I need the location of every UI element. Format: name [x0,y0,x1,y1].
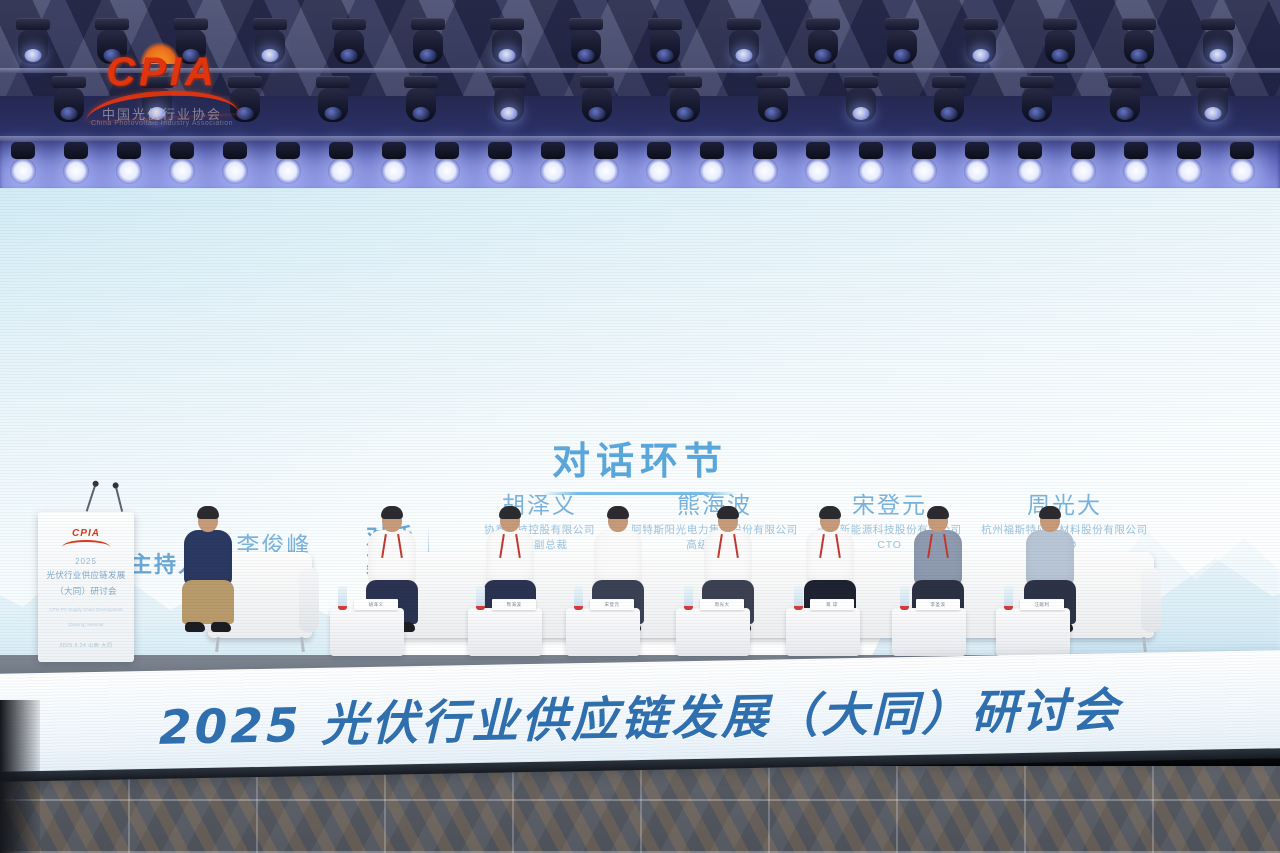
water-bottle [476,586,485,610]
beam-light [222,158,248,184]
beam-light-row [0,132,1280,190]
light-yoke [52,76,86,88]
light-lens [589,107,606,120]
light-lens [815,49,832,62]
beam-light-pod [1018,142,1042,159]
light-yoke [580,76,614,88]
lanyard [927,534,949,560]
water-bottle [900,586,909,610]
beam-light-pod [965,142,989,159]
light-head [492,30,522,64]
beam-light [275,158,301,184]
light-yoke [404,76,438,88]
light-yoke [844,76,878,88]
moving-head-light [727,18,761,64]
moving-head-light [1122,18,1156,64]
podium-date: 2025.5.24 山西·大同 [38,642,134,649]
light-head [758,88,788,122]
panel-seating-area: CPIA 2025 光伏行业供应链发展 （大同）研讨会 CPIA PV Supp… [0,470,1280,670]
beam-light [593,158,619,184]
light-lens [765,107,782,120]
panelist-legs [182,580,234,624]
light-yoke [932,76,966,88]
beam-light-pod [1071,142,1095,159]
moving-head-light [411,18,445,64]
lanyard [819,534,841,560]
water-bottle [338,586,347,610]
light-yoke [490,18,524,30]
moving-head-light [404,76,438,122]
panelist-shoes [185,620,231,632]
light-lens [325,107,342,120]
light-head [1124,30,1154,64]
beam-light [381,158,407,184]
panelist-torso [594,530,642,586]
beam-light-pod [647,142,671,159]
light-yoke [174,18,208,30]
beam-light-pod [753,142,777,159]
side-table: 汪献利 [996,608,1070,656]
moving-head-light [492,76,526,122]
light-lens [894,49,911,62]
beam-light [10,158,36,184]
light-head [1022,88,1052,122]
panelist-hair [1039,506,1061,519]
beam-light-pod [541,142,565,159]
light-head [650,30,680,64]
light-head [846,88,876,122]
beam-light-pod [170,142,194,159]
light-lens [1131,49,1148,62]
beam-light-pod [859,142,883,159]
light-head [887,30,917,64]
microphone-left [86,484,97,511]
beam-light [1070,158,1096,184]
podium-logo: CPIA [64,528,108,539]
light-head [1110,88,1140,122]
beam-light-pod [11,142,35,159]
moving-head-light [932,76,966,122]
light-head [1198,88,1228,122]
podium: CPIA 2025 光伏行业供应链发展 （大同）研讨会 CPIA PV Supp… [38,512,134,662]
light-lens [1205,107,1222,120]
light-yoke [316,76,350,88]
beam-light-pod [276,142,300,159]
panelist-hair [381,506,403,519]
light-yoke [648,18,682,30]
conference-stage-photo: CPIA 中国光伏行业协会 China Photovoltaic Industr… [0,0,1280,853]
beam-light-pod [329,142,353,159]
light-head [934,88,964,122]
light-head [255,30,285,64]
light-yoke [727,18,761,30]
light-head [494,88,524,122]
panelist-hair [197,506,219,519]
light-yoke [332,18,366,30]
moving-head-light [253,18,287,64]
light-lens [578,49,595,62]
light-head [729,30,759,64]
light-lens [420,49,437,62]
beam-light-pod [1230,142,1254,159]
light-lens [941,107,958,120]
light-yoke [1122,18,1156,30]
beam-light [63,158,89,184]
beam-light [434,158,460,184]
name-plate: 周光大 [700,599,744,610]
light-yoke [1043,18,1077,30]
beam-light [169,158,195,184]
moving-head-light [1196,76,1230,122]
beam-light-pod [806,142,830,159]
light-yoke [1196,76,1230,88]
panelist-hair [927,506,949,519]
side-table: 蒋 琼 [786,608,860,656]
side-table: 胡泽义 [330,608,404,656]
chair-legs [208,636,312,652]
light-lens [341,49,358,62]
beam-light-pod [435,142,459,159]
light-yoke [16,18,50,30]
name-plate: 胡泽义 [354,599,398,610]
light-head [808,30,838,64]
light-yoke [668,76,702,88]
foreground-shadow [0,700,40,853]
lanyard [381,534,403,560]
light-lens [1117,107,1134,120]
light-yoke [253,18,287,30]
moving-head-light [490,18,524,64]
light-head [571,30,601,64]
beam-light [1123,158,1149,184]
light-head [334,30,364,64]
podium-year: 2025 [38,557,134,566]
beam-light-pod [912,142,936,159]
light-lens [61,107,78,120]
light-lens [501,107,518,120]
light-yoke [1020,76,1054,88]
moving-head-light [580,76,614,122]
light-yoke [95,18,129,30]
beam-light [858,158,884,184]
name-plate: 宋登元 [590,599,634,610]
name-plate: 蒋 琼 [810,599,854,610]
beam-light [1229,158,1255,184]
light-yoke [885,18,919,30]
beam-light [540,158,566,184]
cpia-name-en: China Photovoltaic Industry Association [82,120,242,127]
light-head [1203,30,1233,64]
microphone-right [115,486,123,512]
panelist-hair [499,506,521,519]
beam-light-pod [488,142,512,159]
name-plate: 汪献利 [1020,599,1064,610]
beam-light-pod [223,142,247,159]
side-table: 周光大 [676,608,750,656]
light-lens [499,49,516,62]
beam-light-pod [1177,142,1201,159]
beam-light [116,158,142,184]
light-lens [973,49,990,62]
light-head [670,88,700,122]
moving-head-light [668,76,702,122]
moving-head-light [1201,18,1235,64]
beam-light-pod [594,142,618,159]
moving-head-light [316,76,350,122]
light-yoke [756,76,790,88]
cpia-logo: CPIA 中国光伏行业协会 China Photovoltaic Industr… [82,44,242,136]
light-head [18,30,48,64]
light-lens [677,107,694,120]
light-yoke [964,18,998,30]
light-head [1045,30,1075,64]
beam-light [805,158,831,184]
lanyard [499,534,521,560]
podium-sub-line1: CPIA PV Supply Chain Development [38,606,134,613]
panelist-hair [717,506,739,519]
beam-light [328,158,354,184]
side-table: 李圣泼 [892,608,966,656]
moving-head-light [332,18,366,64]
light-lens [853,107,870,120]
light-head [318,88,348,122]
moving-head-light [1108,76,1142,122]
moving-head-light [1020,76,1054,122]
light-yoke [806,18,840,30]
moving-head-light [1043,18,1077,64]
light-lens [1210,49,1227,62]
light-yoke [569,18,603,30]
beam-light [1176,158,1202,184]
name-plate: 李圣泼 [916,599,960,610]
beam-light [699,158,725,184]
beam-light-pod [1124,142,1148,159]
lighting-truss: CPIA 中国光伏行业协会 China Photovoltaic Industr… [0,0,1280,190]
moving-head-light [52,76,86,122]
side-table: 宋登元 [566,608,640,656]
cpia-acronym: CPIA [82,50,242,95]
light-yoke [411,18,445,30]
moving-head-light [16,18,50,64]
podium-title-line2: （大同）研讨会 [38,585,134,598]
beam-light-pod [117,142,141,159]
side-table: 熊海波 [468,608,542,656]
venue-carpet [0,766,1280,853]
light-lens [262,49,279,62]
moving-head-light [964,18,998,64]
moving-head-light [844,76,878,122]
light-lens [413,107,430,120]
beam-light-pod [382,142,406,159]
moving-head-light [648,18,682,64]
light-head [54,88,84,122]
moving-head-light [756,76,790,122]
beam-light-pod [700,142,724,159]
podium-sub-line2: (Datong) Seminar [38,621,134,628]
moving-head-light [569,18,603,64]
podium-logo-arc [62,540,110,547]
panelist-torso [1026,530,1074,586]
light-lens [657,49,674,62]
beam-light [964,158,990,184]
panelist-hair [819,506,841,519]
beam-light [646,158,672,184]
panelist-torso [184,530,232,586]
light-head [582,88,612,122]
beam-light [487,158,513,184]
beam-light [911,158,937,184]
panelist [165,508,251,636]
light-head [406,88,436,122]
light-lens [25,49,42,62]
light-head [413,30,443,64]
moving-head-light [885,18,919,64]
podium-title-line1: 光伏行业供应链发展 [38,569,134,582]
light-lens [736,49,753,62]
light-yoke [1201,18,1235,30]
beam-light [752,158,778,184]
name-plate: 熊海波 [492,599,536,610]
panelist-hair [607,506,629,519]
light-yoke [492,76,526,88]
water-bottle [1004,586,1013,610]
light-lens [1052,49,1069,62]
light-yoke [1108,76,1142,88]
light-head [966,30,996,64]
water-bottle [794,586,803,610]
light-lens [1029,107,1046,120]
beam-light [1017,158,1043,184]
moving-head-light [806,18,840,64]
beam-light-pod [64,142,88,159]
water-bottle [684,586,693,610]
lanyard [717,534,739,560]
water-bottle [574,586,583,610]
